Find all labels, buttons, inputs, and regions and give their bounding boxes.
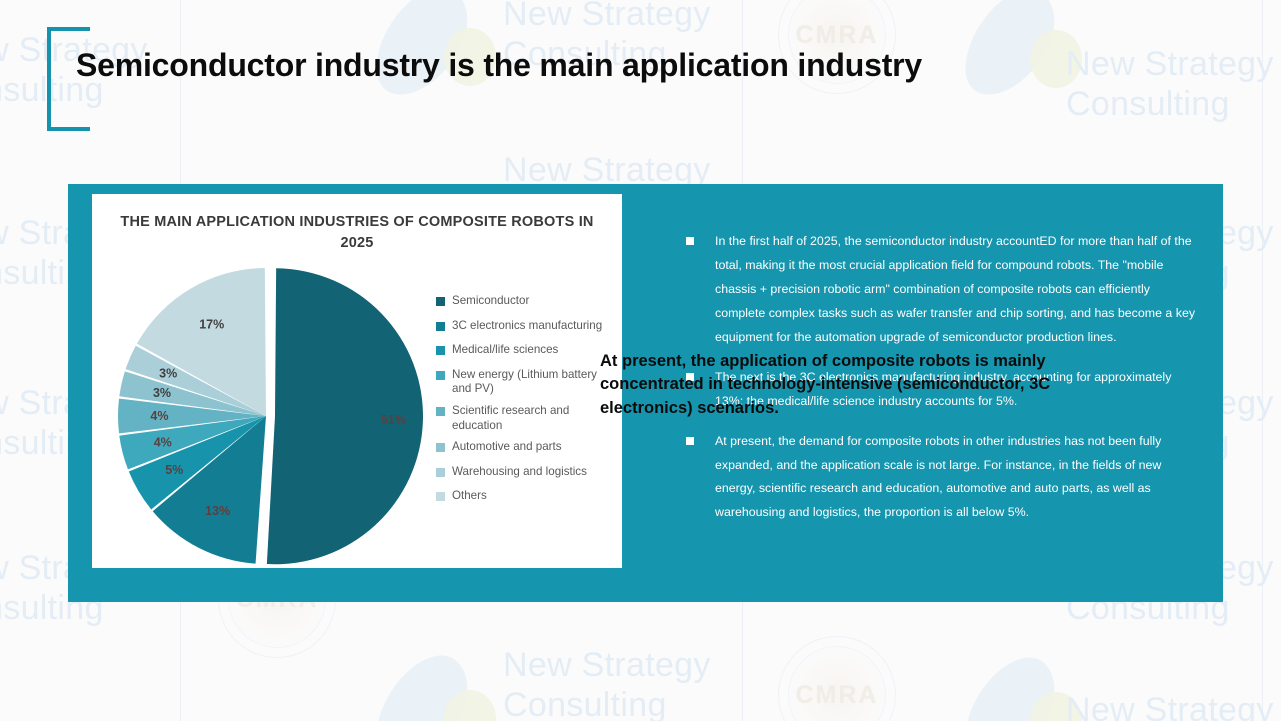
cmra-seal-watermark: CMRA [778,636,896,721]
legend-label: Automotive and parts [452,440,562,455]
background-dot [1030,30,1082,88]
background-blob [947,0,1072,111]
chart-legend: Semiconductor3C electronics manufacturin… [436,294,616,514]
pie-slice-label: 17% [199,317,224,331]
legend-item[interactable]: Medical/life sciences [436,343,616,358]
pie-slice-label: 5% [165,463,183,477]
bullet-item: In the first half of 2025, the semicondu… [686,230,1196,350]
bullet-text: In the first half of 2025, the semicondu… [715,230,1196,350]
summary-text: At present, the application of composite… [600,350,1120,420]
background-dot [444,690,496,721]
legend-item[interactable]: New energy (Lithium battery and PV) [436,368,616,397]
pie-slice-label: 4% [154,436,172,450]
legend-label: Semiconductor [452,294,529,309]
square-bullet-icon [686,237,694,245]
legend-item[interactable]: Others [436,489,616,504]
cmra-seal-text: CMRA [796,21,879,50]
legend-swatch-icon [436,371,445,380]
pie-slice-label: 51% [381,413,406,427]
background-blob [947,643,1072,721]
legend-item[interactable]: Automotive and parts [436,440,616,455]
bullet-text: At present, the demand for composite rob… [715,430,1196,526]
brand-watermark: New Strategy Consulting [503,645,711,721]
chart-card: THE MAIN APPLICATION INDUSTRIES OF COMPO… [92,194,622,568]
cmra-seal-text: CMRA [796,681,879,710]
pie-slice-label: 13% [205,504,230,518]
background-blob [358,640,486,721]
legend-item[interactable]: Scientific research and education [436,404,616,433]
pie-slice-label: 3% [159,367,177,381]
bullet-item: At present, the demand for composite rob… [686,430,1196,526]
square-bullet-icon [686,437,694,445]
legend-label: Scientific research and education [452,404,616,433]
pie-chart-svg: 51%13%5%4%4%3%3%17% [100,256,430,568]
background-dot [1030,692,1082,721]
legend-swatch-icon [436,346,445,355]
legend-swatch-icon [436,468,445,477]
legend-label: Medical/life sciences [452,343,558,358]
legend-item[interactable]: Warehousing and logistics [436,465,616,480]
pie-slice-label: 4% [150,409,168,423]
brand-watermark: New Strategy Consulting [1066,690,1274,721]
legend-label: New energy (Lithium battery and PV) [452,368,616,397]
legend-swatch-icon [436,492,445,501]
brand-watermark: New Strategy Consulting [1066,44,1274,124]
background-gridline [1262,0,1263,721]
chart-title: THE MAIN APPLICATION INDUSTRIES OF COMPO… [114,212,600,253]
legend-item[interactable]: Semiconductor [436,294,616,309]
legend-swatch-icon [436,443,445,452]
page-title: Semiconductor industry is the main appli… [76,47,922,84]
legend-swatch-icon [436,322,445,331]
legend-label: Others [452,489,487,504]
legend-label: 3C electronics manufacturing [452,319,602,334]
legend-swatch-icon [436,407,445,416]
slide-root: CMRA CMRA CMRA CMRA CMRA New Strategy Co… [0,0,1281,721]
pie-slice-label: 3% [153,386,171,400]
legend-label: Warehousing and logistics [452,465,587,480]
legend-item[interactable]: 3C electronics manufacturing [436,319,616,334]
pie-chart: 51%13%5%4%4%3%3%17% [100,256,430,568]
legend-swatch-icon [436,297,445,306]
